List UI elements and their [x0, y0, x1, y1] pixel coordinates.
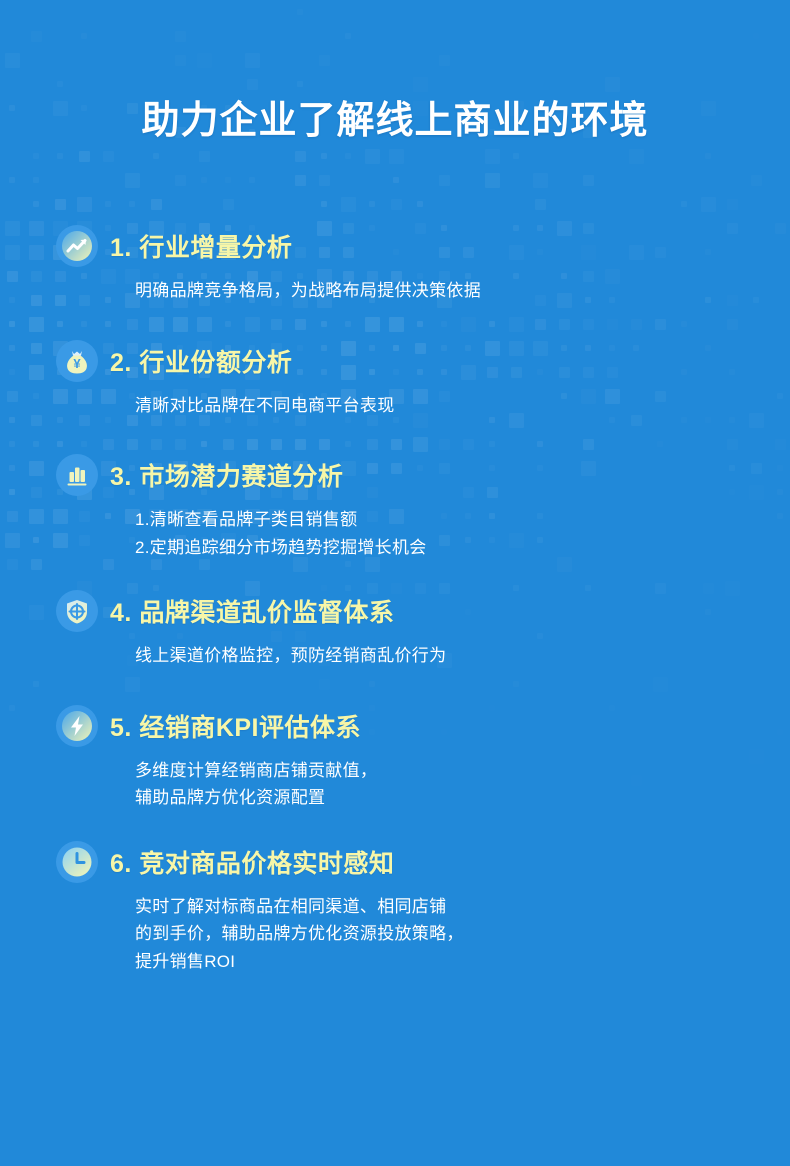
- list-item-index: 4.: [110, 599, 132, 627]
- list-item-title-text: 市场潜力赛道分析: [139, 463, 343, 491]
- list-item-header: 3. 市场潜力赛道分析: [55, 451, 790, 499]
- list-item-title: 4. 品牌渠道乱价监督体系: [110, 593, 394, 629]
- page-title: 助力企业了解线上商业的环境: [0, 98, 790, 146]
- list-item-description: 线上渠道价格监控，预防经销商乱价行为: [135, 642, 790, 670]
- list-item-title-text: 品牌渠道乱价监督体系: [139, 599, 394, 627]
- list-item: 1. 行业增量分析 明确品牌竞争格局，为战略布局提供决策依据: [0, 222, 790, 305]
- trending-up-icon: [55, 224, 99, 268]
- desc-line: 2.定期追踪细分市场趋势挖掘增长机会: [135, 534, 790, 562]
- list-item-header: 6. 竞对商品价格实时感知: [55, 838, 790, 886]
- list-item: ¥ 2. 行业份额分析 清晰对比品牌在不同电商平台表现: [0, 337, 790, 420]
- list-item-title-text: 行业增量分析: [139, 234, 292, 262]
- list-item-title: 1. 行业增量分析: [110, 228, 292, 264]
- list-item-description: 1.清晰查看品牌子类目销售额 2.定期追踪细分市场趋势挖掘增长机会: [135, 506, 790, 561]
- list-item-title: 6. 竞对商品价格实时感知: [110, 844, 394, 880]
- list-item: 5. 经销商KPI评估体系 多维度计算经销商店铺贡献值， 辅助品牌方优化资源配置: [0, 702, 790, 812]
- list-item-title-text: 经销商KPI评估体系: [139, 714, 361, 742]
- list-item-title: 3. 市场潜力赛道分析: [110, 457, 343, 493]
- desc-line: 1.清晰查看品牌子类目销售额: [135, 506, 790, 534]
- promo-page: 助力企业了解线上商业的环境: [0, 0, 790, 1166]
- list-item-index: 1.: [110, 234, 132, 262]
- desc-line: 明确品牌竞争格局，为战略布局提供决策依据: [135, 277, 790, 305]
- list-item-header: 5. 经销商KPI评估体系: [55, 702, 790, 750]
- list-item-index: 6.: [110, 850, 132, 878]
- list-item-index: 5.: [110, 714, 132, 742]
- desc-line: 辅助品牌方优化资源配置: [135, 784, 790, 812]
- list-item-description: 明确品牌竞争格局，为战略布局提供决策依据: [135, 277, 790, 305]
- list-item-title-text: 竞对商品价格实时感知: [139, 850, 394, 878]
- desc-line: 的到手价，辅助品牌方优化资源投放策略，: [135, 920, 790, 948]
- list-item-title: 5. 经销商KPI评估体系: [110, 708, 361, 744]
- list-item-description: 实时了解对标商品在相同渠道、相同店铺 的到手价，辅助品牌方优化资源投放策略， 提…: [135, 893, 790, 976]
- list-item: 3. 市场潜力赛道分析 1.清晰查看品牌子类目销售额 2.定期追踪细分市场趋势挖…: [0, 451, 790, 561]
- list-item-description: 多维度计算经销商店铺贡献值， 辅助品牌方优化资源配置: [135, 757, 790, 812]
- desc-line: 线上渠道价格监控，预防经销商乱价行为: [135, 642, 790, 670]
- list-item-description: 清晰对比品牌在不同电商平台表现: [135, 392, 790, 420]
- desc-line: 实时了解对标商品在相同渠道、相同店铺: [135, 893, 790, 921]
- list-item-index: 2.: [110, 349, 132, 377]
- list-item-header: ¥ 2. 行业份额分析: [55, 337, 790, 385]
- list-item-index: 3.: [110, 463, 132, 491]
- clock-icon: [55, 840, 99, 884]
- lightning-bolt-icon: [55, 704, 99, 748]
- list-item: 4. 品牌渠道乱价监督体系 线上渠道价格监控，预防经销商乱价行为: [0, 587, 790, 670]
- svg-text:¥: ¥: [73, 356, 81, 371]
- desc-line: 多维度计算经销商店铺贡献值，: [135, 757, 790, 785]
- desc-line: 提升销售ROI: [135, 948, 790, 976]
- shield-target-icon: [55, 589, 99, 633]
- list-item-title: 2. 行业份额分析: [110, 343, 292, 379]
- list-item-header: 1. 行业增量分析: [55, 222, 790, 270]
- list-item-header: 4. 品牌渠道乱价监督体系: [55, 587, 790, 635]
- list-item: 6. 竞对商品价格实时感知 实时了解对标商品在相同渠道、相同店铺 的到手价，辅助…: [0, 838, 790, 976]
- bar-chart-icon: [55, 453, 99, 497]
- money-bag-icon: ¥: [55, 339, 99, 383]
- feature-list: 1. 行业增量分析 明确品牌竞争格局，为战略布局提供决策依据 ¥: [0, 222, 790, 975]
- list-item-title-text: 行业份额分析: [139, 349, 292, 377]
- desc-line: 清晰对比品牌在不同电商平台表现: [135, 392, 790, 420]
